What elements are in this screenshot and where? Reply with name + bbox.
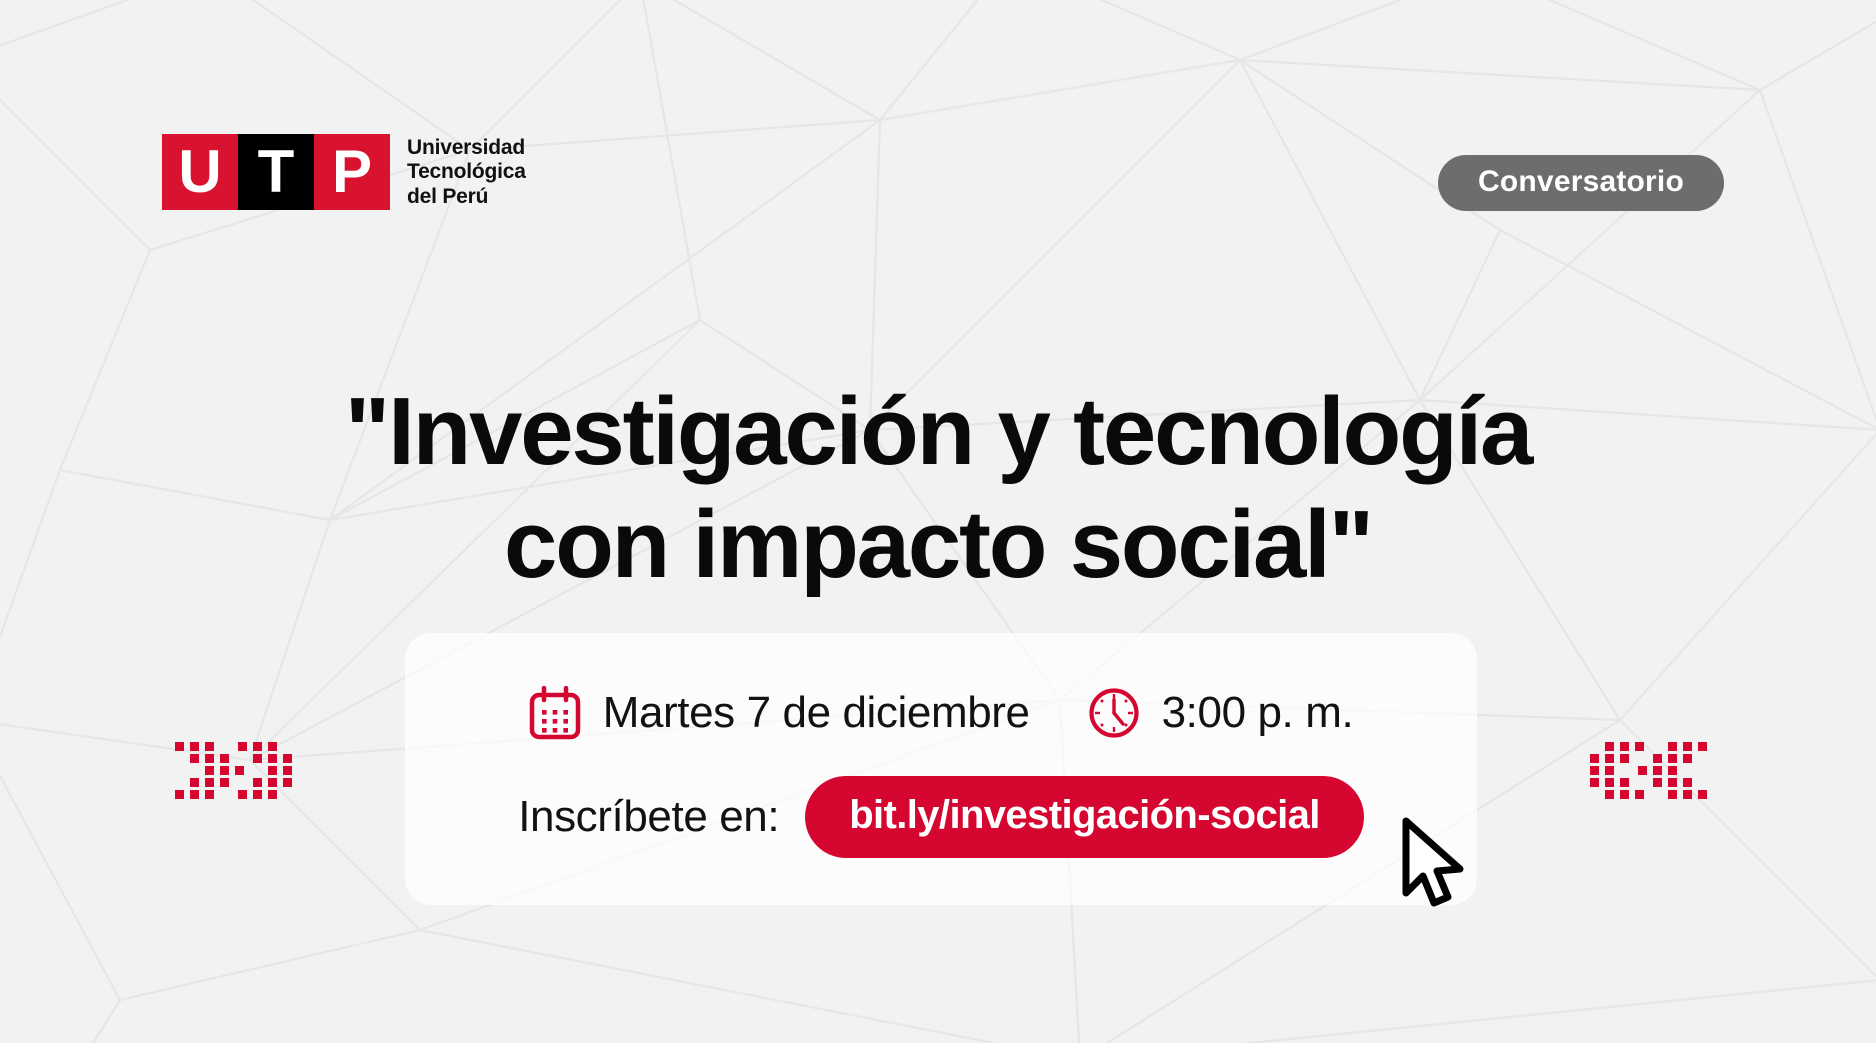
date-time-row: Martes 7 de diciembre [529, 686, 1354, 740]
title-line-1: "Investigación y tecnología [120, 376, 1756, 488]
registration-link-button[interactable]: bit.ly/investigación-social [805, 776, 1364, 858]
dot-matrix-decoration-left [175, 742, 295, 800]
utp-logo-mark: U T P [162, 134, 390, 210]
logo-letter-p: P [314, 134, 390, 210]
title-line-2: con impacto social" [120, 489, 1756, 601]
event-details-card: Martes 7 de diciembre [405, 633, 1477, 905]
dot-matrix-decoration-right [1587, 742, 1707, 800]
registration-row: Inscríbete en: bit.ly/investigación-soci… [518, 776, 1364, 858]
event-date-text: Martes 7 de diciembre [603, 688, 1030, 738]
event-time-text: 3:00 p. m. [1162, 688, 1354, 738]
logo-letter-t: T [238, 134, 314, 210]
utp-logo-wordmark: Universidad Tecnológica del Perú [407, 136, 526, 209]
wordmark-line-3: del Perú [407, 185, 526, 209]
registration-label: Inscríbete en: [518, 792, 779, 842]
wordmark-line-1: Universidad [407, 136, 526, 160]
calendar-icon [529, 686, 581, 740]
event-time: 3:00 p. m. [1088, 687, 1354, 739]
logo-letter-u: U [162, 134, 238, 210]
event-type-badge: Conversatorio [1438, 155, 1724, 211]
utp-logo: U T P Universidad Tecnológica del Perú [162, 134, 526, 210]
clock-icon [1088, 687, 1140, 739]
event-date: Martes 7 de diciembre [529, 686, 1030, 740]
poster-canvas: U T P Universidad Tecnológica del Perú C… [0, 0, 1876, 1043]
wordmark-line-2: Tecnológica [407, 160, 526, 184]
page-title: "Investigación y tecnología con impacto … [0, 376, 1876, 601]
